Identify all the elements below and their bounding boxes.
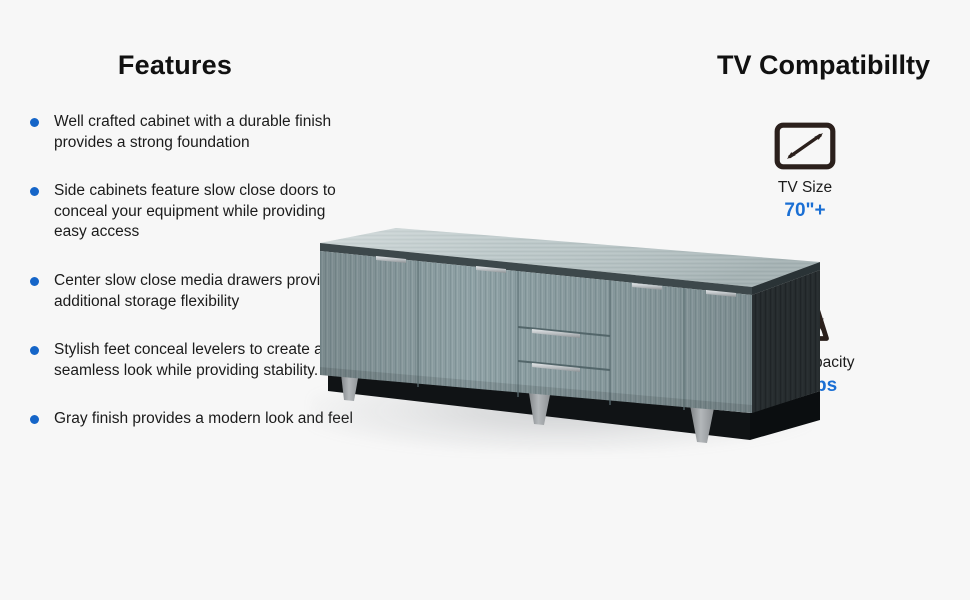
tv-screen-diagonal-icon	[640, 108, 970, 170]
bullet-dot-icon	[30, 346, 39, 355]
spec-label: TV Size	[640, 179, 970, 197]
bullet-dot-icon	[30, 415, 39, 424]
product-image	[280, 215, 840, 475]
features-heading: Features	[0, 50, 350, 81]
feature-text: Well crafted cabinet with a durable fini…	[54, 113, 331, 151]
spec-tv-size: TV Size 70"+	[640, 108, 970, 222]
bullet-dot-icon	[30, 118, 39, 127]
feature-list-item: Well crafted cabinet with a durable fini…	[28, 112, 358, 153]
tv-compatibility-heading: TV Compatibillty	[717, 50, 930, 81]
product-feature-infographic: Features Well crafted cabinet with a dur…	[0, 0, 970, 600]
bullet-dot-icon	[30, 187, 39, 196]
media-console-illustration	[280, 215, 840, 475]
bullet-dot-icon	[30, 277, 39, 286]
